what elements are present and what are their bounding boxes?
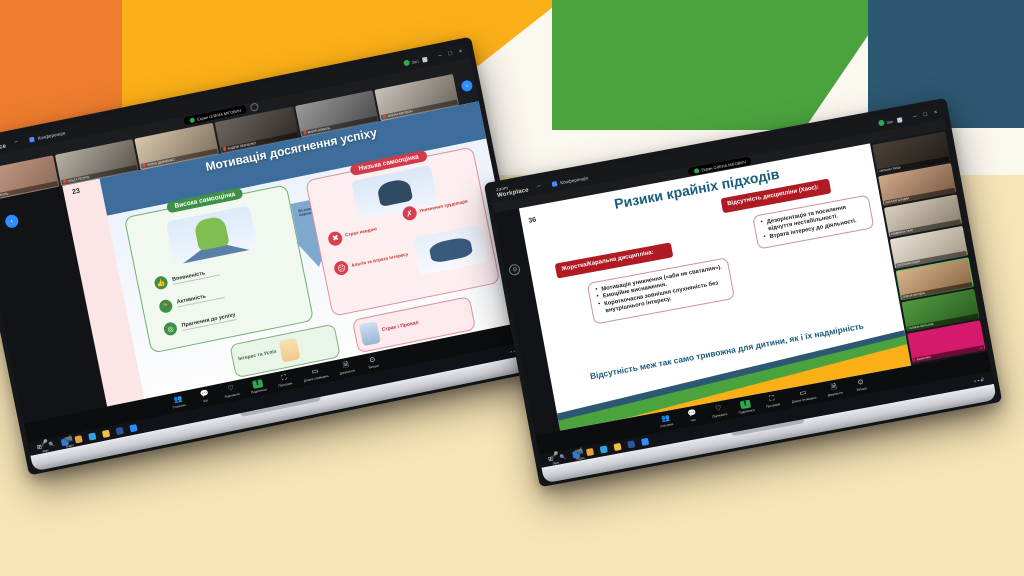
toolbar-apps-label: Програми: [766, 402, 781, 409]
harsh-discipline-list: Мотивація уникнення («аби не сваталия»).…: [595, 264, 727, 317]
tab-conference-label: Конференція: [37, 130, 65, 140]
close-button[interactable]: ×: [933, 110, 938, 117]
list-item-label: Прагнення до успіху: [181, 312, 236, 331]
documents-icon: 🗎: [343, 362, 350, 370]
toolbar-apps-label: Програми: [278, 381, 293, 388]
record-dot-icon: [403, 59, 410, 66]
high-self-esteem-column: Висока самооцінка 👍 Впевненість: [123, 184, 314, 354]
mic-muted-icon: [303, 130, 307, 135]
toolbar-participants-label: Учасники: [660, 422, 674, 428]
risk-item: ☹ Апатія та втрата інтересу: [333, 247, 412, 276]
more-options-icon[interactable]: ⊙: [509, 263, 522, 276]
child-figure-icon: [377, 178, 413, 207]
recording-indicator[interactable]: Зап.: [403, 56, 428, 67]
stop-square-icon: [896, 117, 902, 123]
slide-page-number: 23: [72, 187, 81, 195]
chat-icon: 💬: [199, 390, 209, 399]
toolbar-more-label: Більше: [368, 364, 379, 370]
running-icon: 🏃: [158, 298, 173, 313]
toolbar-documents-label: Документи: [339, 368, 355, 375]
toolbar-reactions-label: Оцінювати: [712, 412, 728, 419]
thumbs-up-icon: 👍: [154, 275, 169, 290]
harsh-discipline-heading-text: Жорстка/Каральна дисципліна:: [561, 250, 654, 273]
video-camera-icon: [552, 181, 558, 187]
window-minimize-left-two[interactable]: –: [535, 183, 541, 190]
risk-item-label: Апатія та втрата інтересу: [351, 252, 409, 268]
screen-share-icon: [189, 117, 195, 123]
chevron-down-icon[interactable]: ⌄: [979, 344, 983, 350]
risk-item: ✖ Страх невдачі: [327, 218, 402, 246]
sad-icon: ☹: [333, 260, 350, 277]
toolbar-reactions[interactable]: ♡ Оцінювати: [222, 384, 240, 399]
list-item: 🏃 Активність: [158, 288, 225, 314]
tab-conference-label: Конференція: [560, 175, 588, 185]
trophy-illustration-icon: [278, 337, 300, 362]
person-figure-icon: [194, 216, 230, 251]
climbing-illustration: [166, 205, 258, 265]
record-dot-icon: [878, 120, 885, 127]
video-camera-icon: [29, 136, 35, 142]
toolbar-more-label: Більше: [856, 386, 867, 392]
toolbar-chat[interactable]: 💬 Чат: [684, 409, 702, 424]
screenshot-canvas: zoom Workplace – Конференція Зап.: [0, 0, 1024, 576]
toolbar-chat-label: Чат: [690, 418, 696, 423]
no-entry-icon: ✖: [327, 230, 344, 247]
toolbar-documents[interactable]: 🗎 Документи: [337, 361, 355, 376]
toolbar-share[interactable]: ⬆ Поділитися: [249, 378, 268, 394]
more-icon: ⊙: [369, 356, 376, 364]
toolbar-documents-label: Документи: [827, 391, 843, 398]
toolbar-documents[interactable]: 🗎 Документи: [826, 383, 844, 398]
list-item: ◎ Прагнення до успіху: [163, 309, 237, 336]
window-controls-two[interactable]: – □ ×: [908, 110, 938, 121]
interest-success-label: Інтерес та Успіх: [238, 350, 277, 363]
zoom-taskbar-icon[interactable]: [130, 424, 138, 432]
stop-square-icon: [421, 56, 427, 62]
risk-item-label: Страх невдачі: [345, 228, 378, 239]
mic-muted-icon: [223, 147, 227, 152]
no-discipline-list: Дезорієнтація та посилення відчуття нест…: [760, 201, 866, 242]
recording-label: Зап.: [886, 118, 895, 124]
toolbar-apps[interactable]: ⛶ Програми: [276, 373, 294, 388]
prev-participants-button[interactable]: ‹: [4, 214, 19, 229]
toolbar-chat[interactable]: 💬 Чат: [196, 389, 214, 404]
toolbar-apps[interactable]: ⛶ Програми: [763, 394, 781, 409]
cross-out-icon: ✗: [401, 205, 418, 222]
toolbar-whiteboard-label: Дошка сповіщень: [791, 395, 816, 404]
reactions-icon: ♡: [715, 405, 722, 413]
toolbar-reactions-label: Оцінювати: [224, 392, 240, 399]
list-item: 👍 Впевненість: [154, 265, 221, 291]
next-participants-button[interactable]: ›: [460, 79, 473, 92]
window-minimize-left[interactable]: –: [12, 139, 18, 146]
word-icon[interactable]: [116, 427, 124, 435]
child-figure-icon: [428, 236, 473, 263]
minimize-button[interactable]: –: [438, 53, 442, 60]
more-icon: ⊙: [857, 379, 864, 387]
fear-failure-label: Страх і Провал: [382, 321, 420, 334]
reactions-icon: ♡: [227, 385, 235, 393]
toolbar-more[interactable]: ⊙ Більше: [364, 355, 382, 370]
maximize-button[interactable]: □: [448, 51, 453, 58]
apps-icon: ⛶: [281, 374, 287, 382]
telegram-icon[interactable]: [600, 445, 608, 453]
list-item-label: Впевненість: [172, 267, 221, 284]
toolbar-whiteboard[interactable]: ▭ Дошка сповіщень: [790, 388, 817, 404]
documents-icon: 🗎: [831, 384, 838, 392]
word-icon[interactable]: [627, 440, 635, 448]
toolbar-chat-label: Чат: [203, 398, 209, 403]
toolbar-reactions[interactable]: ♡ Оцінювати: [710, 404, 728, 419]
toolbar-participants[interactable]: 👥 Учасники: [657, 414, 675, 429]
recording-label: Зап.: [411, 58, 420, 64]
apps-icon: ⛶: [769, 395, 775, 403]
low-self-esteem-column: Низька самооцінка ✖ Страх невдачі: [305, 146, 500, 317]
mic-muted-icon: [63, 179, 67, 184]
maximize-button[interactable]: □: [923, 112, 928, 119]
zoom-taskbar-icon[interactable]: [641, 438, 649, 446]
lying-child-illustration: [413, 224, 490, 276]
system-tray[interactable]: ∧ ⏶ 🔊: [973, 377, 985, 383]
toolbar-participants[interactable]: 👥 Учасники: [169, 395, 187, 410]
toolbar-whiteboard[interactable]: ▭ Дошка сповіщень: [302, 366, 329, 383]
mic-muted-icon: [143, 163, 147, 168]
close-button[interactable]: ×: [458, 49, 463, 56]
screen-share-icon: [693, 168, 699, 174]
recording-indicator[interactable]: Зап.: [878, 116, 903, 126]
whiteboard-icon: ▭: [799, 389, 807, 397]
toolbar-more[interactable]: ⊙ Більше: [852, 378, 870, 393]
chat-icon: 💬: [687, 410, 697, 418]
minimize-button[interactable]: –: [913, 113, 917, 120]
target-icon: ◎: [163, 321, 178, 336]
mic-muted-icon: [383, 114, 387, 119]
explorer-icon[interactable]: [102, 430, 110, 438]
rain-cloud-icon: [358, 321, 380, 346]
toolbar-share[interactable]: ⬆ Поділитися: [737, 399, 755, 415]
list-item-label: Активність: [176, 290, 225, 307]
window-controls-one[interactable]: – □ ×: [433, 49, 463, 61]
explorer-icon[interactable]: [614, 443, 622, 451]
telegram-icon[interactable]: [88, 432, 96, 440]
